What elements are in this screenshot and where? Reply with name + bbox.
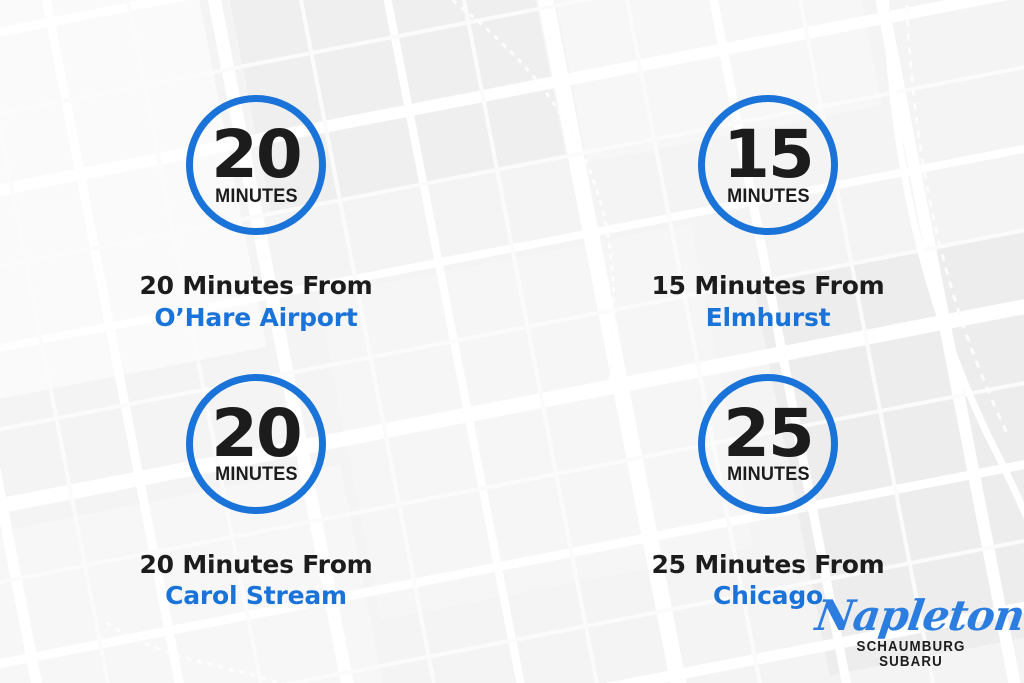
info-tile-carol-stream: 20 MINUTES 20 Minutes From Carol Stream	[0, 342, 512, 683]
caption-primary: 20 Minutes From	[139, 551, 372, 580]
badge-unit-label: MINUTES	[215, 187, 298, 206]
time-badge: 20 MINUTES	[186, 374, 326, 514]
caption-location: Elmhurst	[651, 304, 884, 333]
info-tile-elmhurst: 15 MINUTES 15 Minutes From Elmhurst	[512, 0, 1024, 342]
caption-primary: 15 Minutes From	[651, 272, 884, 301]
badge-unit-label: MINUTES	[727, 465, 810, 484]
time-badge: 20 MINUTES	[186, 95, 326, 235]
caption-location: O’Hare Airport	[139, 304, 372, 333]
promo-graphic: 20 MINUTES 20 Minutes From O’Hare Airpor…	[0, 0, 1024, 683]
badge-number: 20	[211, 407, 301, 461]
badge-grid: 20 MINUTES 20 Minutes From O’Hare Airpor…	[0, 0, 1024, 683]
badge-number: 15	[723, 128, 813, 182]
tile-caption: 15 Minutes From Elmhurst	[651, 272, 884, 332]
time-badge: 25 MINUTES	[698, 374, 838, 514]
badge-number: 25	[723, 407, 813, 461]
tile-caption: 20 Minutes From O’Hare Airport	[139, 272, 372, 332]
dealership-logo: Napleton’s SCHAUMBURG SUBARU	[816, 595, 1006, 669]
logo-subtitle: SCHAUMBURG SUBARU	[824, 640, 999, 669]
tile-caption: 20 Minutes From Carol Stream	[139, 551, 372, 611]
caption-primary: 25 Minutes From	[651, 551, 884, 580]
badge-unit-label: MINUTES	[215, 465, 298, 484]
badge-number: 20	[211, 128, 301, 182]
caption-primary: 20 Minutes From	[139, 272, 372, 301]
badge-unit-label: MINUTES	[727, 187, 810, 206]
time-badge: 15 MINUTES	[698, 95, 838, 235]
info-tile-ohare: 20 MINUTES 20 Minutes From O’Hare Airpor…	[0, 0, 512, 342]
caption-location: Carol Stream	[139, 582, 372, 611]
logo-wordmark: Napleton’s	[813, 595, 1009, 637]
